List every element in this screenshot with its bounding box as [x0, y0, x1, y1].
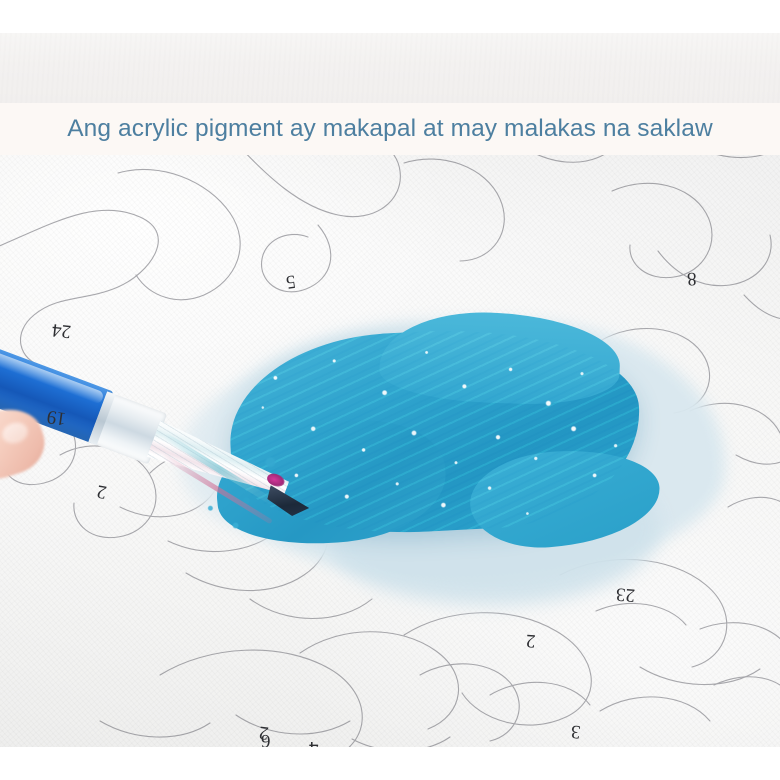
top-white-margin: [0, 0, 780, 33]
canvas-number: 3: [570, 722, 581, 742]
feature-banner: Ang acrylic pigment ay makapal at may ma…: [0, 103, 780, 155]
canvas-number: 19: [46, 407, 67, 428]
canvas-number: 23: [615, 584, 635, 604]
canvas-number: 8: [686, 269, 697, 289]
canvas-number: 6: [261, 731, 271, 747]
bottom-white-margin: [0, 747, 780, 780]
canvas-number: 2: [526, 631, 536, 650]
product-photo: 24192582322346: [0, 155, 780, 747]
canvas-number: 4: [309, 738, 319, 747]
product-detail-screen: Ang acrylic pigment ay makapal at may ma…: [0, 0, 780, 780]
canvas-number: 24: [51, 320, 72, 341]
brush-tip: [263, 481, 313, 521]
feature-banner-text: Ang acrylic pigment ay makapal at may ma…: [67, 117, 713, 142]
upper-canvas-area: [0, 33, 780, 103]
